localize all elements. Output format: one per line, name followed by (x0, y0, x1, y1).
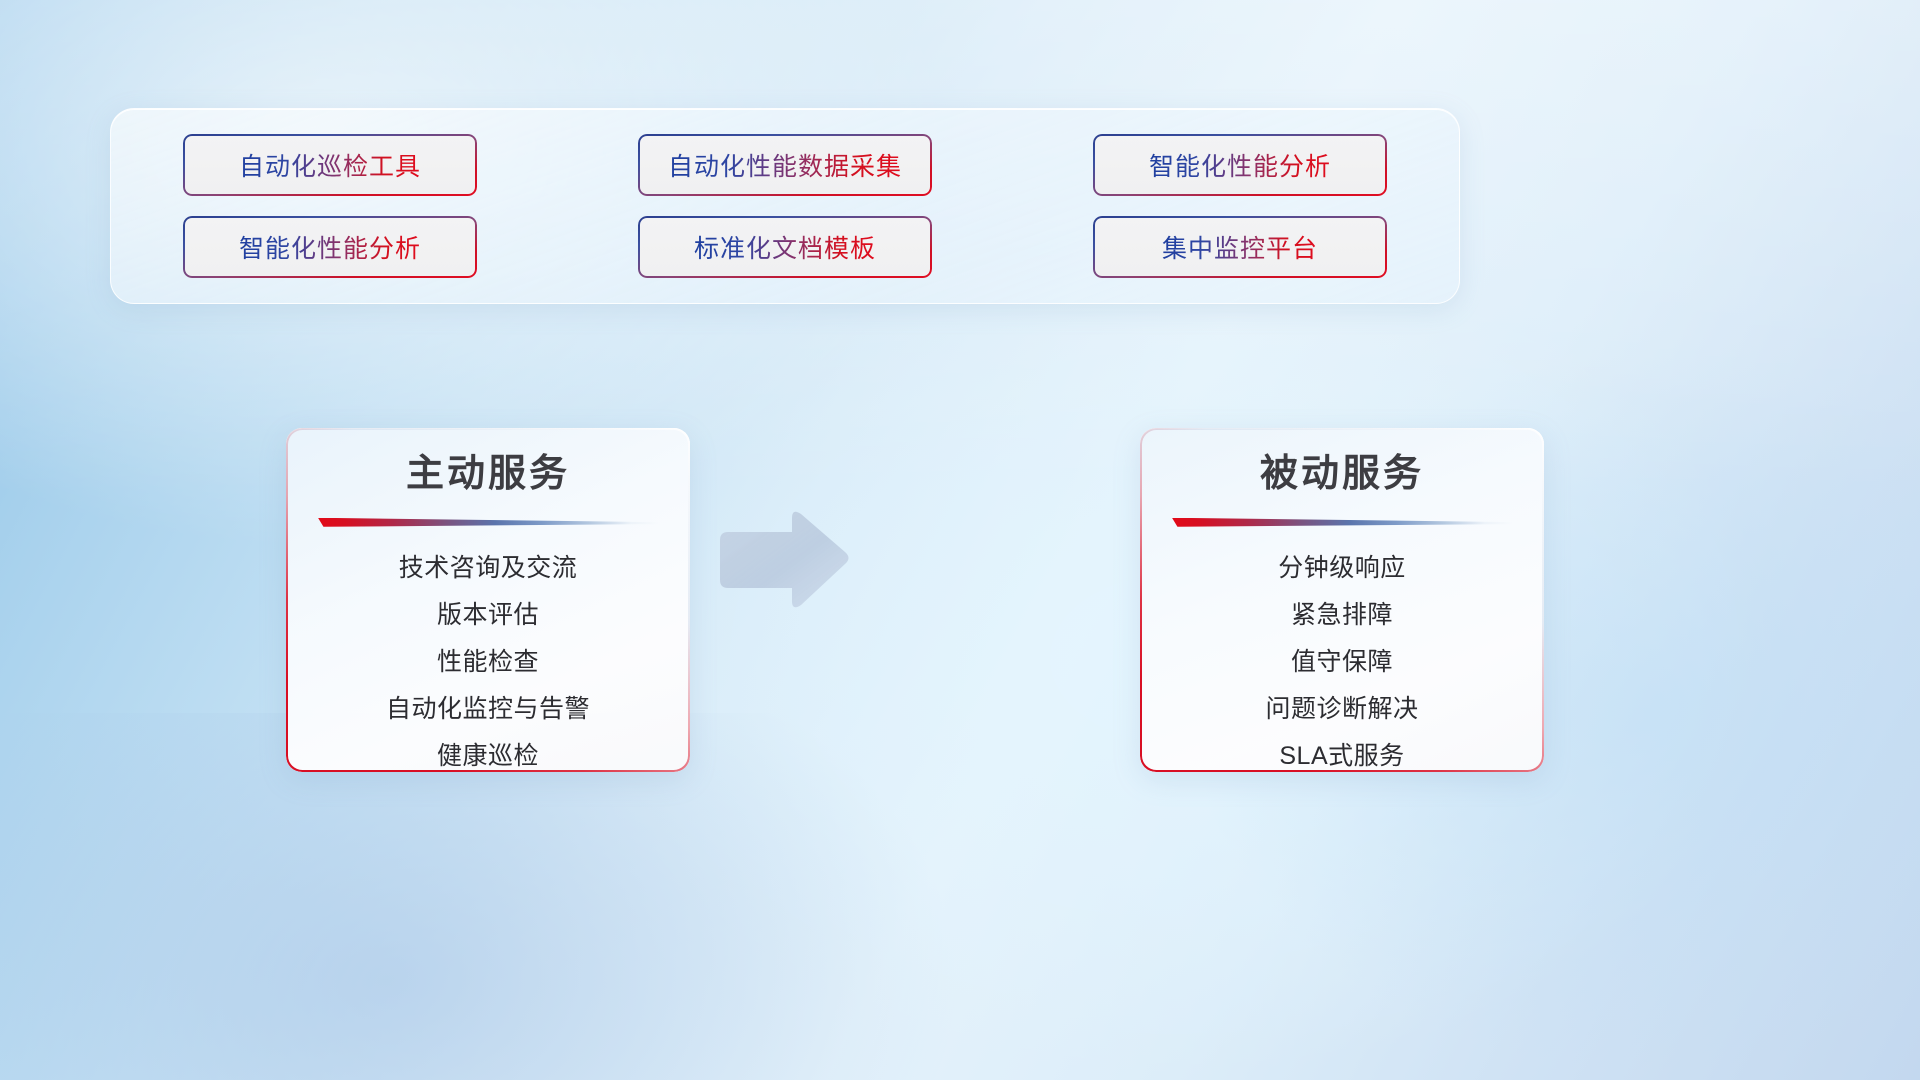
service-item-list: 分钟级响应 紧急排障 值守保障 问题诊断解决 SLA式服务 (1164, 545, 1520, 780)
service-list-item: 值守保障 (1164, 639, 1520, 686)
title-divider (318, 518, 658, 527)
capability-tag-label: 自动化性能数据采集 (668, 147, 902, 183)
service-list-item: 自动化监控与告警 (310, 686, 666, 733)
capability-tag-automated-performance-data-collection[interactable]: 自动化性能数据采集 (638, 134, 932, 196)
title-divider (1172, 518, 1512, 527)
service-list-item: 版本评估 (310, 592, 666, 639)
service-card-active: 主动服务 技术咨询及交流 版本评估 性能检查 自动化监控与告警 健康巡检 (286, 428, 690, 772)
title-divider-bar (318, 518, 658, 527)
capability-tag-intelligent-performance-analysis-2[interactable]: 智能化性能分析 (183, 216, 477, 278)
capability-tag-row-1: 自动化巡检工具 自动化性能数据采集 智能化性能分析 (183, 134, 1387, 196)
service-list-item: SLA式服务 (1164, 733, 1520, 780)
service-list-item: 问题诊断解决 (1164, 686, 1520, 733)
service-card-passive: 被动服务 分钟级响应 紧急排障 值守保障 问题诊断解决 SLA式服务 (1140, 428, 1544, 772)
service-list-item: 技术咨询及交流 (310, 545, 666, 592)
service-list-item: 健康巡检 (310, 733, 666, 780)
service-card-title: 主动服务 (310, 454, 666, 496)
capability-tag-label: 自动化巡检工具 (239, 147, 421, 183)
capability-tags-panel: 自动化巡检工具 自动化性能数据采集 智能化性能分析 智能化性能分析 标准化文档模… (110, 108, 1460, 304)
title-divider-bar (1172, 518, 1512, 527)
service-item-list: 技术咨询及交流 版本评估 性能检查 自动化监控与告警 健康巡检 (310, 545, 666, 780)
service-card-title: 被动服务 (1164, 454, 1520, 496)
service-list-item: 紧急排障 (1164, 592, 1520, 639)
capability-tag-centralized-monitoring-platform[interactable]: 集中监控平台 (1093, 216, 1387, 278)
capability-tag-row-2: 智能化性能分析 标准化文档模板 集中监控平台 (183, 216, 1387, 278)
capability-tag-automated-inspection-tool[interactable]: 自动化巡检工具 (183, 134, 477, 196)
capability-tag-intelligent-performance-analysis[interactable]: 智能化性能分析 (1093, 134, 1387, 196)
capability-tag-label: 标准化文档模板 (694, 229, 876, 265)
capability-tag-label: 智能化性能分析 (239, 229, 421, 265)
capability-tag-label: 智能化性能分析 (1149, 147, 1331, 183)
service-list-item: 分钟级响应 (1164, 545, 1520, 592)
service-list-item: 性能检查 (310, 639, 666, 686)
capability-tag-standardized-document-template[interactable]: 标准化文档模板 (638, 216, 932, 278)
capability-tag-label: 集中监控平台 (1162, 229, 1318, 265)
arrow-right-icon (716, 508, 852, 612)
